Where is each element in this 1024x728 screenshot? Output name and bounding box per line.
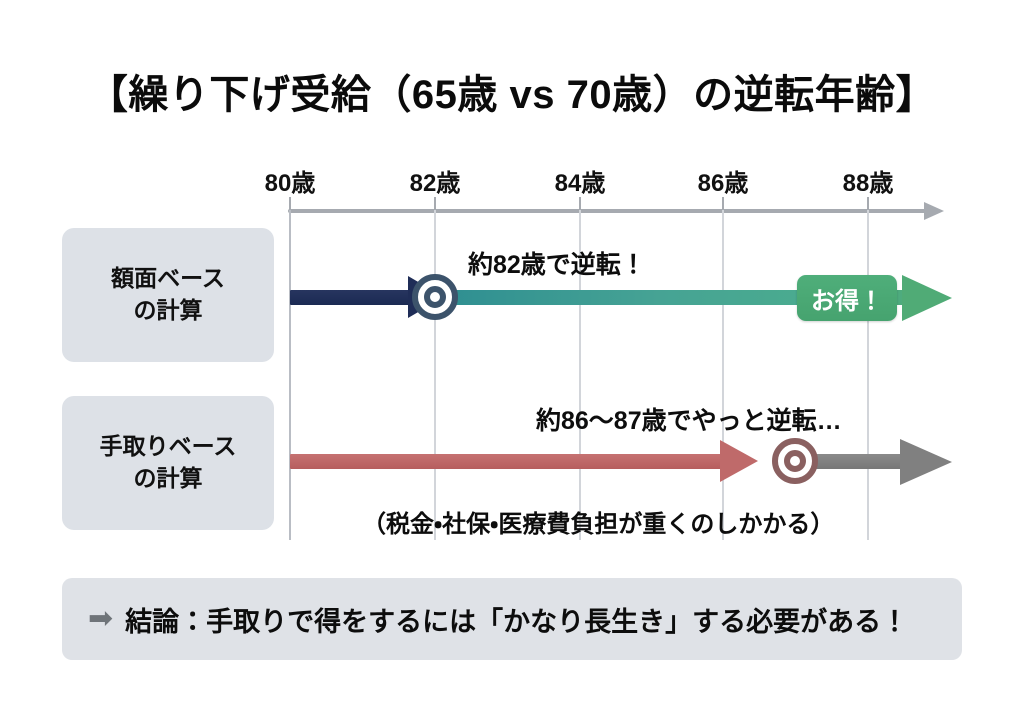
crossover-marker-gross-inner: [424, 286, 446, 308]
conclusion-text: 結論：手取りで得をするには「かなり長生き」する必要がある！: [125, 600, 908, 639]
axis-arrowhead-icon: [924, 202, 944, 220]
axis-tick-label-88: 88歳: [808, 163, 928, 198]
annotation-gross-crossover: 約82歳で逆転！: [468, 245, 646, 281]
row-label-gross-line2: の計算: [134, 295, 203, 327]
gridline-86: [722, 210, 724, 540]
bar-gross-after-crossover: [436, 290, 808, 305]
axis-tick-label-80: 80歳: [230, 163, 350, 198]
annotation-net-crossover: 約86〜87歳でやっと逆転…: [536, 401, 842, 437]
gridline-80: [289, 210, 291, 540]
bar-net-before-arrowhead-icon: [720, 440, 758, 482]
row-label-net-line1: 手取りベース: [100, 431, 237, 463]
axis-tick-86: [722, 197, 724, 211]
axis-tick-label-86: 86歳: [663, 163, 783, 198]
axis-tick-84: [579, 197, 581, 211]
page-title: 【繰り下げ受給（65歳 vs 70歳）の逆転年齢】: [0, 62, 1024, 120]
row-label-net: 手取りベース の計算: [62, 396, 274, 530]
right-arrow-icon: ➡: [88, 604, 113, 634]
timeline-axis: [288, 209, 926, 213]
row-label-gross-line1: 額面ベース: [111, 263, 225, 295]
bar-gross-after-arrowhead-icon: [902, 275, 952, 321]
axis-tick-82: [434, 197, 436, 211]
crossover-marker-gross: [412, 274, 458, 320]
gridline-82: [434, 210, 436, 540]
bar-net-after-arrowhead-icon: [900, 439, 952, 485]
row-label-net-line2: の計算: [134, 463, 203, 495]
crossover-marker-net-inner: [784, 450, 806, 472]
bar-net-before-crossover: [290, 454, 722, 469]
axis-tick-88: [867, 197, 869, 211]
conclusion-banner: ➡ 結論：手取りで得をするには「かなり長生き」する必要がある！: [62, 578, 962, 660]
axis-tick-label-84: 84歳: [520, 163, 640, 198]
row-label-gross: 額面ベース の計算: [62, 228, 274, 362]
status-badge-otoku: お得！: [797, 275, 897, 321]
infographic-canvas: 【繰り下げ受給（65歳 vs 70歳）の逆転年齢】 80歳 82歳 84歳 86…: [0, 0, 1024, 728]
annotation-net-subnote: （税金・社保・医療費負担が重くのしかかる）: [362, 504, 834, 539]
axis-tick-80: [289, 197, 291, 211]
crossover-marker-net: [772, 438, 818, 484]
axis-tick-label-82: 82歳: [375, 163, 495, 198]
gridline-88: [867, 210, 869, 540]
bar-gross-before-crossover: [290, 290, 410, 305]
